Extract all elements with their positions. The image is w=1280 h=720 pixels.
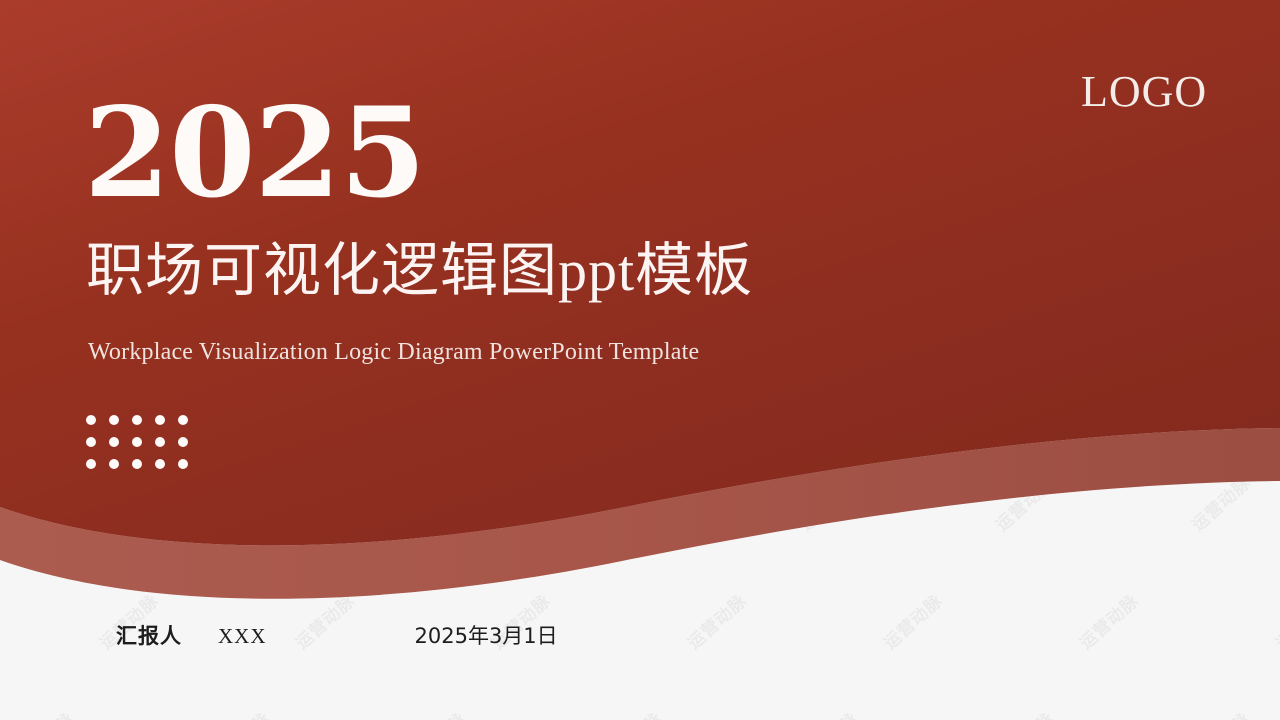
dot bbox=[109, 415, 119, 425]
dot bbox=[155, 415, 165, 425]
year-heading: 2025 bbox=[84, 92, 425, 216]
presentation-slide: 运营动脉运营动脉运营动脉运营动脉运营动脉运营动脉运营动脉运营动脉运营动脉运营动脉… bbox=[0, 0, 1280, 720]
dot bbox=[155, 437, 165, 447]
dot bbox=[132, 415, 142, 425]
dot bbox=[86, 459, 96, 469]
dot bbox=[86, 415, 96, 425]
dot bbox=[86, 437, 96, 447]
dot bbox=[132, 437, 142, 447]
dot bbox=[178, 459, 188, 469]
slide-content: LOGO 2025 职场可视化逻辑图ppt模板 Workplace Visual… bbox=[0, 0, 1280, 720]
dot bbox=[132, 459, 142, 469]
dot bbox=[109, 437, 119, 447]
dot bbox=[109, 459, 119, 469]
presenter-name: XXX bbox=[218, 624, 267, 649]
dot bbox=[178, 437, 188, 447]
slide-footer: 汇报人 XXX 2025年3月1日 bbox=[116, 620, 558, 650]
dot bbox=[155, 459, 165, 469]
page-title: 职场可视化逻辑图ppt模板 bbox=[86, 238, 753, 305]
presenter-label: 汇报人 bbox=[116, 620, 182, 650]
page-subtitle: Workplace Visualization Logic Diagram Po… bbox=[88, 338, 699, 367]
dot bbox=[178, 415, 188, 425]
logo-text: LOGO bbox=[1081, 70, 1207, 114]
dot-grid-decoration bbox=[86, 415, 188, 469]
presentation-date: 2025年3月1日 bbox=[415, 620, 558, 650]
